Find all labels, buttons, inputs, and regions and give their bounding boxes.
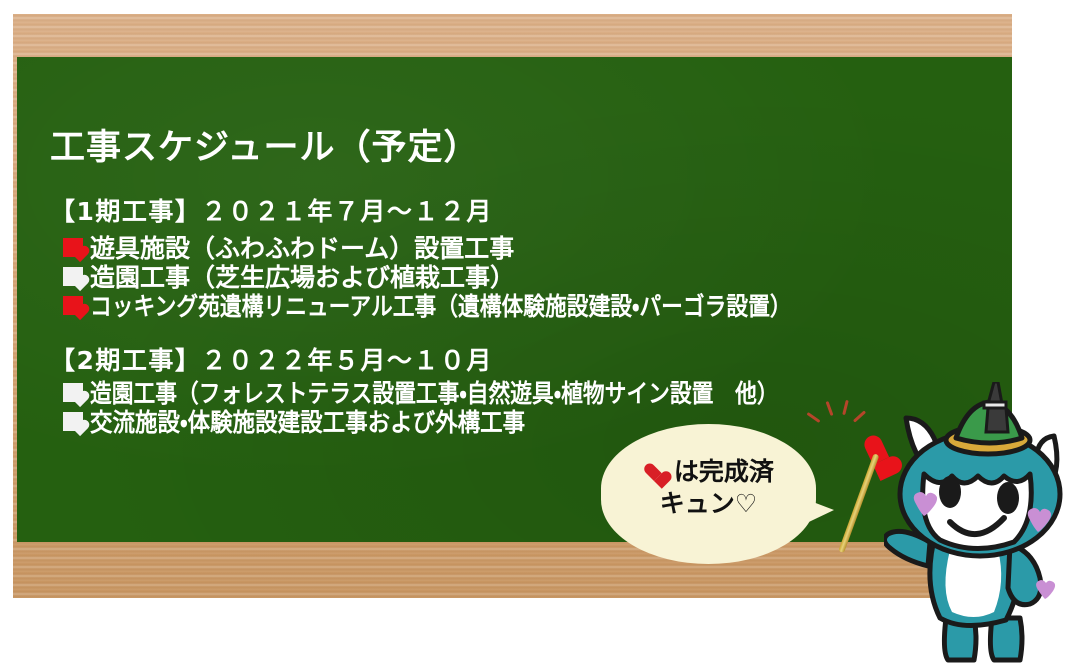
heart-icon-red — [63, 296, 83, 315]
speech-bubble-line-1: は完成済 — [601, 456, 816, 488]
heart-icon-red — [63, 238, 83, 257]
sparkle-icon — [826, 401, 834, 416]
speech-bubble-line-1-label: は完成済 — [674, 457, 774, 486]
list-item: コッキング苑遺構リニューアル工事（遺構体験施設建設・パーゴラ設置） — [63, 287, 897, 323]
schedule-blackboard-graphic: 工事スケジュール（予定） 【1期工事】２０２１年７月～１２月 遊具施設（ふわふわ… — [0, 0, 1089, 667]
phase-2-header: 【2期工事】２０２２年５月～１０月 — [50, 341, 493, 377]
sparkle-icon — [842, 400, 849, 415]
page-title: 工事スケジュール（予定） — [50, 119, 480, 170]
sparkle-icon — [806, 412, 820, 423]
speech-bubble-line-2-label: キュン♡ — [601, 488, 816, 520]
heart-icon-red — [643, 463, 664, 483]
list-item: 交流施設・体験施設建設工事および外構工事 — [63, 403, 574, 439]
heart-icon-white — [63, 267, 83, 286]
heart-icon-white — [63, 383, 83, 402]
heart-icon-white — [63, 412, 83, 431]
teal-mascot-character — [884, 382, 1089, 667]
speech-bubble-text: は完成済 キュン♡ — [601, 456, 816, 520]
list-item-label: 交流施設・体験施設建設工事および外構工事 — [90, 403, 525, 439]
phase-1-header: 【1期工事】２０２１年７月～１２月 — [50, 192, 493, 228]
sparkle-icon — [853, 410, 866, 422]
list-item-label: コッキング苑遺構リニューアル工事（遺構体験施設建設・パーゴラ設置） — [90, 287, 792, 323]
